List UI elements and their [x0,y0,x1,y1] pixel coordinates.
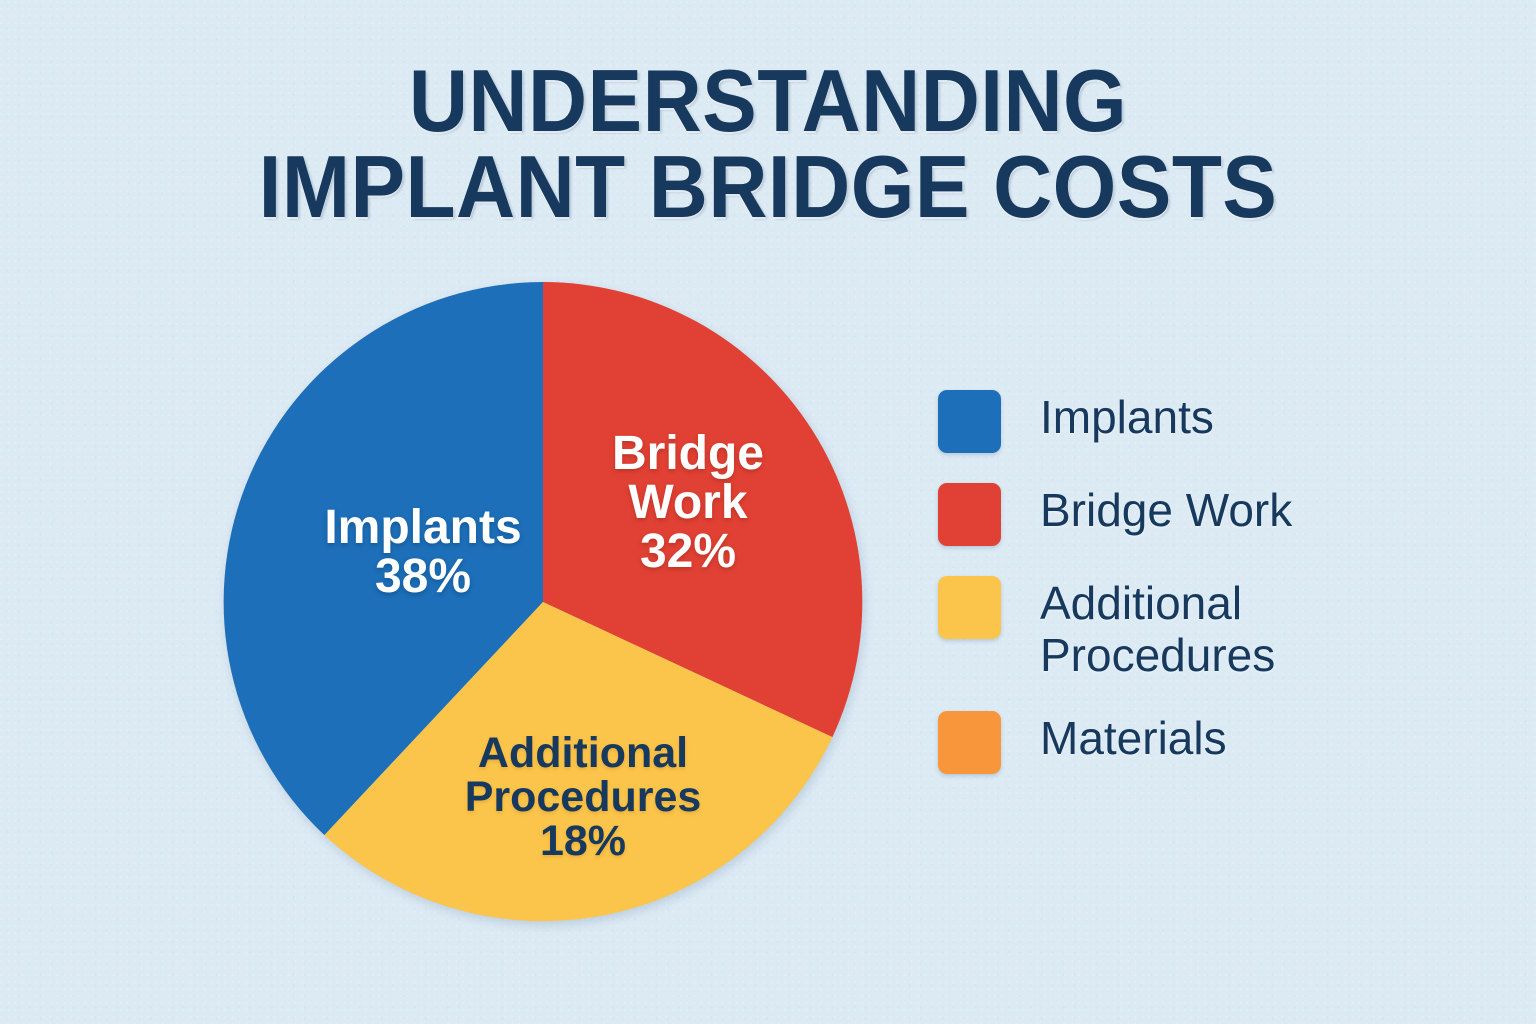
legend-swatch-implants [938,390,1001,453]
chart-legend: Implants Bridge Work Additional Procedur… [938,390,1418,804]
pie-chart: Implants 38% Bridge Work 32% Additional … [223,282,863,922]
legend-swatch-additional-procedures [938,576,1001,639]
legend-label-implants-line-1: Implants [1040,391,1214,443]
legend-item-additional-procedures[interactable]: Additional Procedures [938,576,1418,681]
legend-label-bridge-work-line-1: Bridge Work [1040,484,1292,536]
title-line-2: Implant Bridge Costs [54,144,1482,230]
legend-item-bridge-work[interactable]: Bridge Work [938,483,1418,546]
legend-label-implants: Implants [1040,390,1214,444]
legend-label-materials-line-1: Materials [1040,712,1227,764]
legend-label-bridge-work: Bridge Work [1040,483,1292,537]
pie-chart-svg [223,282,863,922]
legend-label-additional-procedures-line-1: Additional [1040,577,1242,629]
legend-label-materials: Materials [1040,711,1227,765]
legend-label-additional-procedures-line-2: Procedures [1040,630,1275,682]
legend-swatch-bridge-work [938,483,1001,546]
legend-label-additional-procedures: Additional Procedures [1040,576,1275,681]
legend-item-implants[interactable]: Implants [938,390,1418,453]
legend-item-materials[interactable]: Materials [938,711,1418,774]
legend-swatch-materials [938,711,1001,774]
title-line-1: Understanding [54,58,1482,144]
infographic-canvas: Understanding Implant Bridge Costs Impla… [0,0,1536,1024]
page-title: Understanding Implant Bridge Costs [0,58,1536,230]
